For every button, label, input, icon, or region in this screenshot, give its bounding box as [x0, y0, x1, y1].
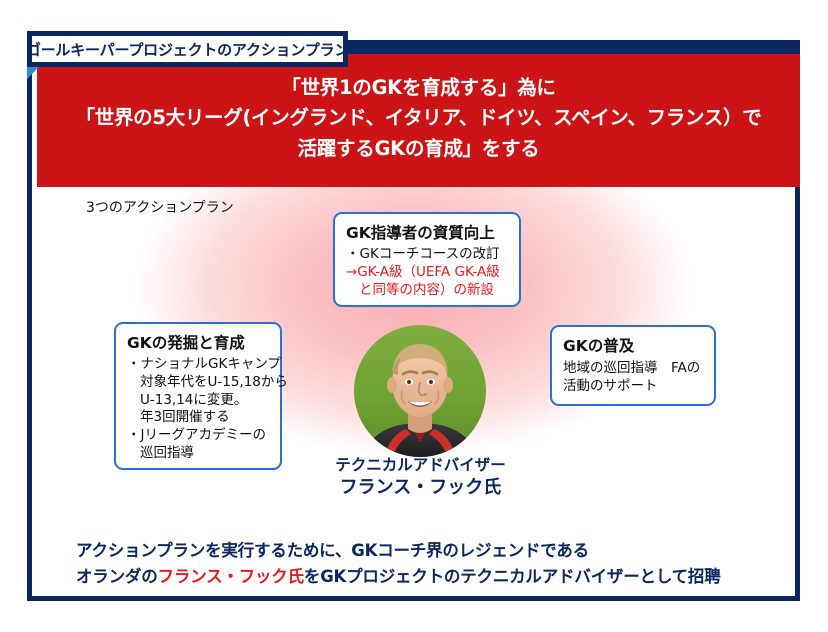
- section-label: 3つのアクションプラン: [86, 197, 234, 217]
- footer-line-2-before: オランダの: [76, 567, 158, 586]
- plan-line: 地域の巡回指導 FAの: [563, 360, 704, 378]
- plan-title: GKの普及: [563, 334, 704, 356]
- plan-line: 対象年代をU-15,18から: [127, 374, 270, 392]
- advisor-photo: [354, 325, 486, 457]
- plan-line: 巡回指導: [127, 445, 270, 463]
- advisor-caption: テクニカルアドバイザー フランス・フック氏: [313, 455, 528, 500]
- headline-line-3: 活躍するGKの育成」をする: [37, 134, 800, 164]
- header-navy-strip: [321, 40, 800, 54]
- plan-title: GKの発掘と育成: [127, 331, 270, 353]
- plan-title: GK指導者の資質向上: [346, 221, 509, 243]
- footer-line-1: アクションプランを実行するために、GKコーチ界のレジェンドである: [76, 538, 721, 564]
- title-tab-label: ゴールキーパープロジェクトのアクションプラン: [26, 39, 349, 60]
- plan-line: U-13,14に変更。: [127, 392, 270, 410]
- footer-line-2-after: をGKプロジェクトのテクニカルアドバイザーとして招聘: [304, 567, 721, 586]
- headline-line-1: 「世界1のGKを育成する」為に: [37, 73, 800, 103]
- plan-line: 年3回開催する: [127, 409, 270, 427]
- headline-line-2: 「世界の5大リーグ(イングランド、イタリア、ドイツ、スペイン、フランス）で: [37, 103, 800, 133]
- plan-box-coach-quality: GK指導者の資質向上 ・GKコーチコースの改訂 →GK-A級（UEFA GK-A…: [333, 212, 521, 307]
- headline-banner: 「世界1のGKを育成する」為に 「世界の5大リーグ(イングランド、イタリア、ドイ…: [37, 50, 800, 187]
- advisor-role: テクニカルアドバイザー: [313, 455, 528, 476]
- plan-box-discover-develop: GKの発掘と育成 ・ナショナルGKキャンプ 対象年代をU-15,18から U-1…: [114, 322, 282, 470]
- plan-box-spread: GKの普及 地域の巡回指導 FAの 活動のサポート: [550, 325, 716, 406]
- advisor-name: フランス・フック氏: [313, 476, 528, 500]
- plan-line: ・ナショナルGKキャンプ: [127, 356, 270, 374]
- footer-line-2: オランダのフランス・フック氏をGKプロジェクトのテクニカルアドバイザーとして招聘: [76, 564, 721, 590]
- plan-line: と同等の内容）の新設: [346, 282, 509, 300]
- tab-corner-accent: [27, 66, 40, 79]
- title-tab: ゴールキーパープロジェクトのアクションプラン: [27, 31, 348, 67]
- slide-frame: 「世界1のGKを育成する」為に 「世界の5大リーグ(イングランド、イタリア、ドイ…: [27, 40, 800, 601]
- headline-text: 「世界1のGKを育成する」為に 「世界の5大リーグ(イングランド、イタリア、ドイ…: [37, 73, 800, 164]
- footer-statement: アクションプランを実行するために、GKコーチ界のレジェンドである オランダのフラ…: [76, 538, 721, 589]
- slide: 「世界1のGKを育成する」為に 「世界の5大リーグ(イングランド、イタリア、ドイ…: [0, 0, 828, 632]
- portrait-illustration: [354, 325, 486, 457]
- plan-line: ・GKコーチコースの改訂: [346, 246, 509, 264]
- footer-highlight-name: フランス・フック氏: [158, 567, 304, 586]
- plan-line: 活動のサポート: [563, 378, 704, 396]
- plan-line: ・Jリーグアカデミーの: [127, 427, 270, 445]
- plan-line: →GK-A級（UEFA GK-A級: [346, 264, 509, 282]
